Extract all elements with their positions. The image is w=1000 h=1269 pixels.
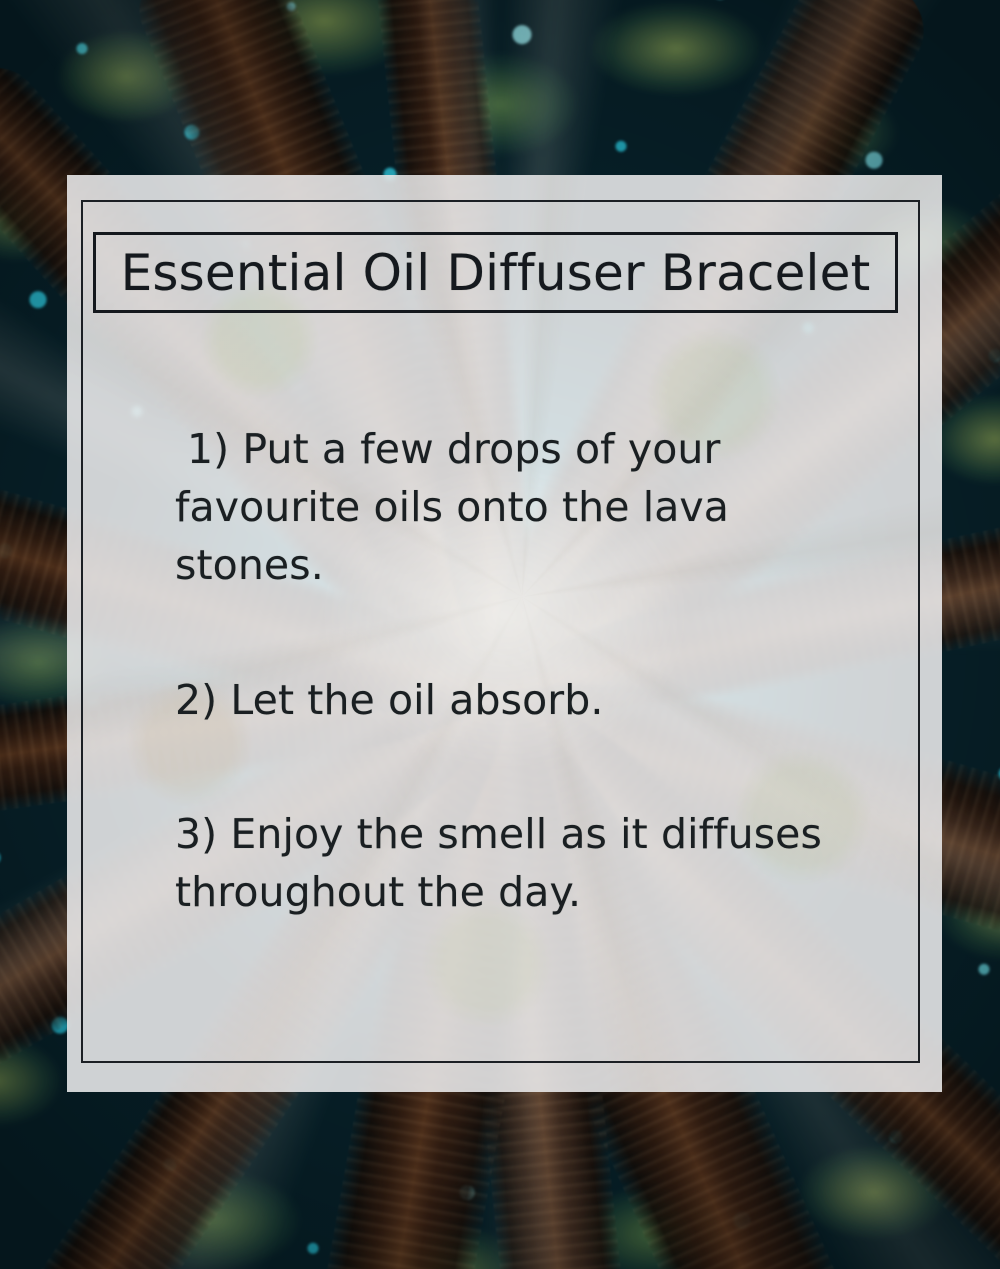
poster-root: Essential Oil Diffuser Bracelet 1) Put a… [0, 0, 1000, 1269]
instruction-step-1: 1) Put a few drops of your favourite oil… [175, 420, 775, 595]
instruction-step-2: 2) Let the oil absorb. [175, 671, 875, 729]
instruction-steps-list: 1) Put a few drops of your favourite oil… [175, 420, 875, 921]
page-title: Essential Oil Diffuser Bracelet [121, 248, 871, 298]
title-box: Essential Oil Diffuser Bracelet [93, 232, 898, 313]
instruction-step-3: 3) Enjoy the smell as it diffuses throug… [175, 805, 835, 921]
